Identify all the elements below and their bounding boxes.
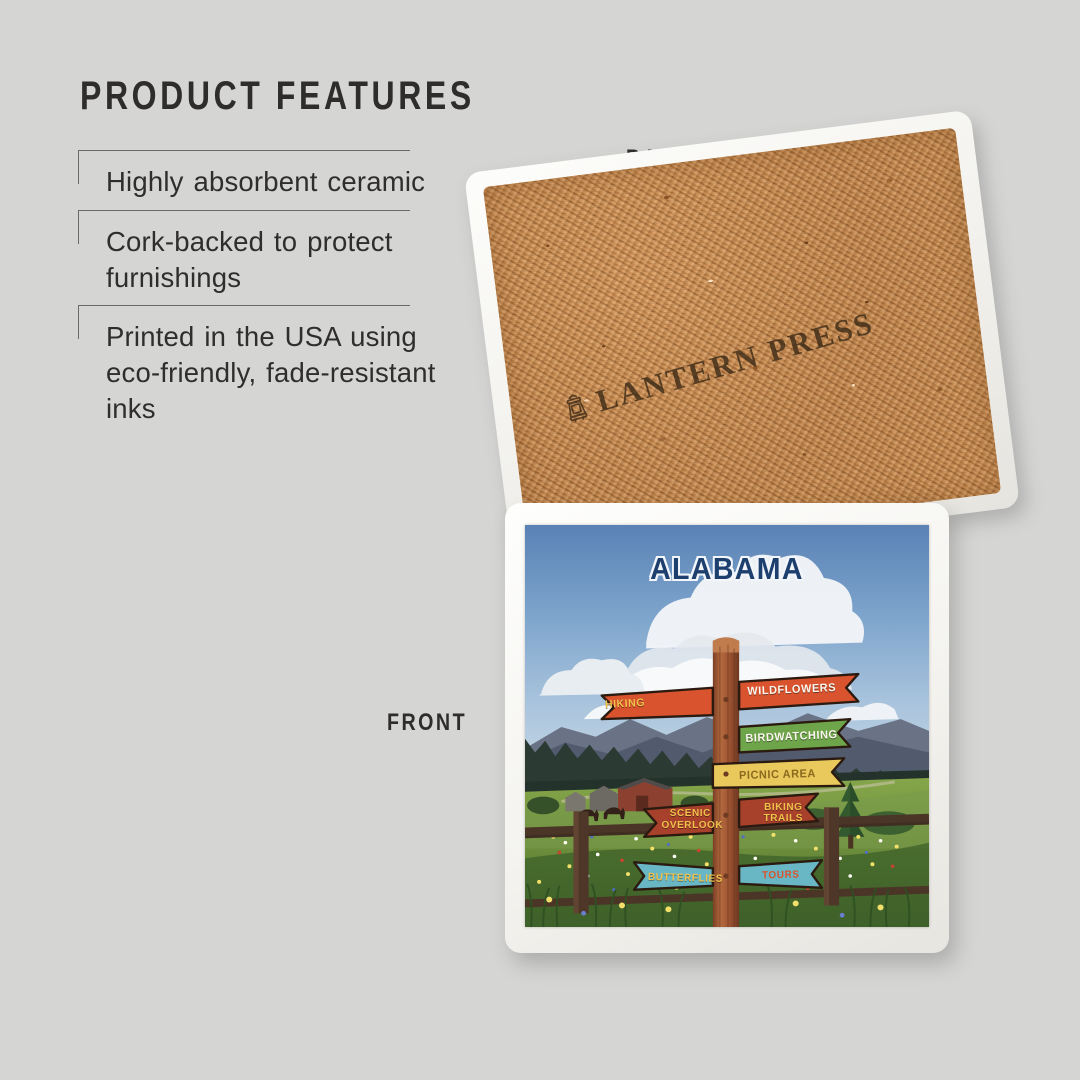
feature-divider — [78, 210, 410, 211]
feature-text: Cork-backed to protect furnishings — [106, 224, 438, 296]
sign-label-hiking: HIKING — [605, 697, 646, 711]
brand-name: LANTERN PRESS — [593, 307, 877, 417]
coaster-back: LANTERN PRESS — [464, 110, 1020, 571]
feature-tick — [78, 305, 79, 339]
feature-divider — [78, 305, 410, 306]
sign-label-tours: TOURS — [762, 869, 800, 882]
product-listing-image: PRODUCT FEATURES Highly absorbent cerami… — [0, 0, 1080, 1080]
sign-label-biking-trails: BIKING TRAILS — [755, 802, 813, 826]
coaster-artwork: ALABAMA HIKING WILDFLOWERS BIRDWATCHING … — [525, 525, 929, 927]
sign-label-butterflies: BUTTERFLIES — [648, 871, 723, 885]
brand-logo: LANTERN PRESS — [560, 307, 878, 427]
page-title: PRODUCT FEATURES — [80, 76, 366, 116]
feature-item: Highly absorbent ceramic — [78, 150, 438, 210]
feature-item: Printed in the USA using eco-friendly, f… — [78, 305, 438, 436]
product-features-panel: PRODUCT FEATURES Highly absorbent cerami… — [78, 76, 438, 437]
feature-tick — [78, 210, 79, 244]
front-label: FRONT — [387, 709, 467, 737]
feature-item: Cork-backed to protect furnishings — [78, 210, 438, 306]
cork-surface: LANTERN PRESS — [483, 128, 1001, 553]
sign-label-scenic-overlook: SCENIC OVERLOOK — [662, 808, 720, 832]
feature-text: Printed in the USA using eco-friendly, f… — [106, 319, 438, 426]
sign-label-picnic-area: PICNIC AREA — [739, 768, 816, 782]
scene-illustration — [525, 525, 929, 927]
feature-divider — [78, 150, 410, 151]
feature-text: Highly absorbent ceramic — [106, 164, 438, 200]
lantern-icon — [560, 390, 593, 426]
coaster-front: ALABAMA HIKING WILDFLOWERS BIRDWATCHING … — [505, 503, 949, 953]
feature-tick — [78, 150, 79, 184]
